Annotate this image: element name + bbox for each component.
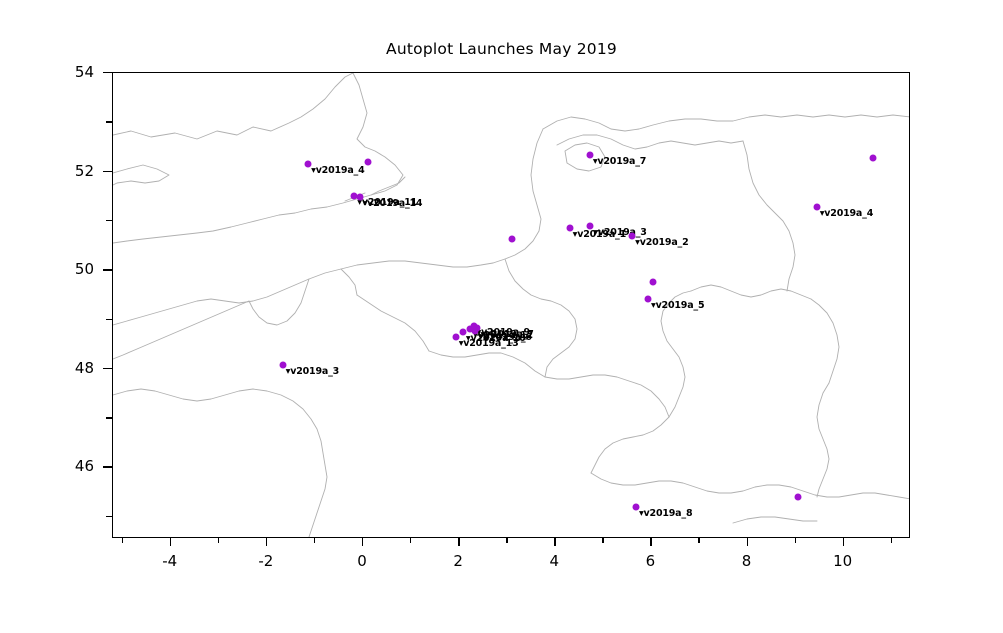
x-axis-tick-label: 4 xyxy=(549,552,559,570)
y-major-tick xyxy=(103,269,112,270)
y-major-tick xyxy=(103,171,112,172)
x-minor-tick xyxy=(795,538,796,543)
y-major-tick xyxy=(103,368,112,369)
y-axis-tick-label: 46 xyxy=(32,457,94,475)
plot-area xyxy=(112,72,910,538)
x-axis-tick-label: 8 xyxy=(742,552,752,570)
y-axis-tick-label: 48 xyxy=(32,359,94,377)
scatter-point-label: ▾v2019a_4 xyxy=(311,165,364,176)
x-major-tick xyxy=(170,538,171,546)
x-minor-tick xyxy=(506,538,507,543)
x-major-tick xyxy=(458,538,459,546)
scatter-point-label: ▾v2019a_8 xyxy=(639,508,692,519)
y-minor-tick xyxy=(106,417,112,418)
x-minor-tick xyxy=(698,538,699,543)
scatter-point-label: ▾v2019a_3 xyxy=(593,227,646,238)
scatter-point-label: ▾v2019a_7 xyxy=(480,329,533,340)
x-major-tick xyxy=(650,538,651,546)
x-major-tick xyxy=(843,538,844,546)
scatter-point-label: ▾v2019a_4 xyxy=(820,208,873,219)
x-axis-tick-label: 2 xyxy=(453,552,463,570)
y-major-tick xyxy=(103,466,112,467)
x-axis-tick-label: 0 xyxy=(357,552,367,570)
coastline-svg xyxy=(113,73,909,537)
scatter-point xyxy=(869,155,876,162)
y-minor-tick xyxy=(106,121,112,122)
x-major-tick xyxy=(554,538,555,546)
scatter-point xyxy=(649,279,656,286)
page-title: Autoplot Launches May 2019 xyxy=(0,40,1003,58)
y-minor-tick xyxy=(106,220,112,221)
y-minor-tick xyxy=(106,516,112,517)
x-axis-tick-label: 6 xyxy=(646,552,656,570)
scatter-point-label: ▾v2019a_3 xyxy=(286,366,339,377)
x-axis-tick-label: -4 xyxy=(162,552,177,570)
y-major-tick xyxy=(103,72,112,73)
x-major-tick xyxy=(747,538,748,546)
basemap-coastlines xyxy=(113,73,909,537)
scatter-point xyxy=(365,158,372,165)
scatter-point-label: ▾v2019a_5 xyxy=(651,300,704,311)
x-minor-tick xyxy=(602,538,603,543)
x-axis-tick-label: 10 xyxy=(833,552,852,570)
scatter-point-label: ▾v2019a_2 xyxy=(635,237,688,248)
y-axis-tick-label: 52 xyxy=(32,162,94,180)
x-minor-tick xyxy=(891,538,892,543)
x-major-tick xyxy=(362,538,363,546)
scatter-point xyxy=(795,493,802,500)
x-minor-tick xyxy=(410,538,411,543)
scatter-point xyxy=(508,235,515,242)
y-minor-tick xyxy=(106,319,112,320)
x-major-tick xyxy=(266,538,267,546)
y-axis-tick-label: 50 xyxy=(32,260,94,278)
scatter-point-label: ▾v2019a_14 xyxy=(363,198,423,209)
x-minor-tick xyxy=(218,538,219,543)
y-axis-tick-label: 54 xyxy=(32,63,94,81)
scatter-point-label: ▾v2019a_7 xyxy=(593,156,646,167)
x-axis-tick-label: -2 xyxy=(258,552,273,570)
x-minor-tick xyxy=(314,538,315,543)
x-minor-tick xyxy=(122,538,123,543)
figure-canvas: Autoplot Launches May 2019 xyxy=(0,0,1003,633)
